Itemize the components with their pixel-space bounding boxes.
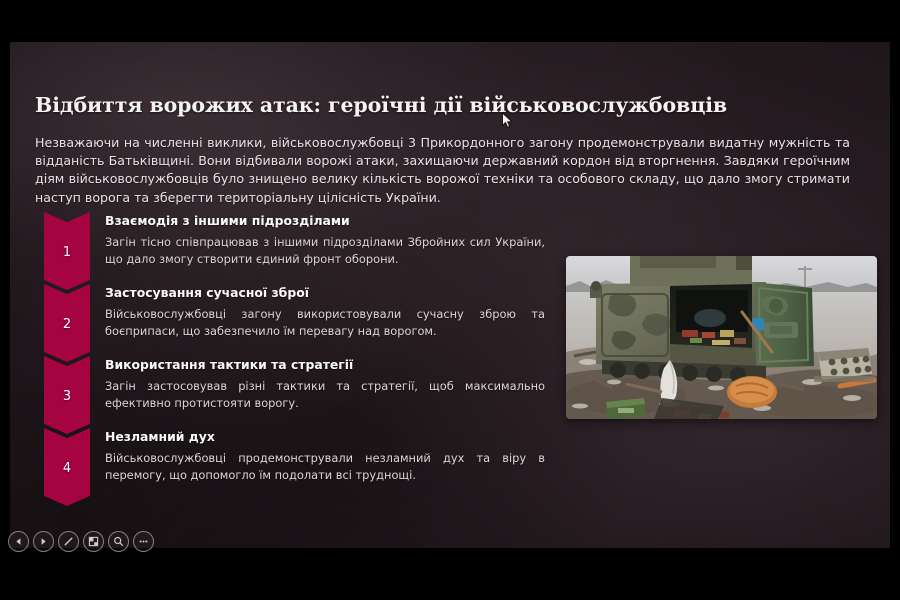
play-forward-icon xyxy=(39,537,48,546)
ribbon-badge-2: 2 xyxy=(44,284,90,362)
ribbon-number-label: 3 xyxy=(63,390,71,403)
presentation-viewer: Відбиття ворожих атак: героїчні дії війс… xyxy=(0,0,900,600)
list-item: 3 Використання тактики та стратегії Загі… xyxy=(35,356,545,428)
ribbon-number-label: 4 xyxy=(63,462,71,475)
page-title: Відбиття ворожих атак: героїчні дії війс… xyxy=(35,92,855,118)
ribbon-badge-1: 1 xyxy=(44,212,90,290)
feature-title: Застосування сучасної зброї xyxy=(105,285,545,301)
slide-overview-button[interactable] xyxy=(83,531,104,552)
previous-slide-button[interactable] xyxy=(8,531,29,552)
feature-description: Військовослужбовці продемонстрували незл… xyxy=(105,450,545,483)
feature-text-block: Використання тактики та стратегії Загін … xyxy=(105,357,545,411)
list-item: 1 Взаємодія з іншими підрозділами Загін … xyxy=(35,212,545,284)
zoom-button[interactable] xyxy=(108,531,129,552)
slide-photo xyxy=(566,256,877,419)
pen-icon xyxy=(63,536,74,547)
feature-list: 1 Взаємодія з іншими підрозділами Загін … xyxy=(35,212,545,500)
ribbon-badge-4: 4 xyxy=(44,428,90,506)
next-slide-button[interactable] xyxy=(33,531,54,552)
ellipsis-icon xyxy=(138,536,149,547)
pen-tool-button[interactable] xyxy=(58,531,79,552)
slide-canvas[interactable]: Відбиття ворожих атак: героїчні дії війс… xyxy=(10,42,890,548)
ribbon-number-label: 1 xyxy=(63,246,71,259)
play-back-icon xyxy=(14,537,23,546)
more-options-button[interactable] xyxy=(133,531,154,552)
feature-description: Загін застосовував різні тактики та стра… xyxy=(105,378,545,411)
list-item: 4 Незламний дух Військовослужбовці проде… xyxy=(35,428,545,500)
ribbon-badge-3: 3 xyxy=(44,356,90,434)
list-item: 2 Застосування сучасної зброї Військовос… xyxy=(35,284,545,356)
magnifier-icon xyxy=(113,536,124,547)
feature-title: Використання тактики та стратегії xyxy=(105,357,545,373)
destroyed-vehicle-photo xyxy=(566,256,877,419)
presentation-toolbar[interactable] xyxy=(8,531,154,552)
feature-title: Незламний дух xyxy=(105,429,545,445)
feature-description: Військовослужбовці загону використовувал… xyxy=(105,306,545,339)
feature-description: Загін тісно співпрацював з іншими підроз… xyxy=(105,234,545,267)
feature-text-block: Взаємодія з іншими підрозділами Загін ті… xyxy=(105,213,545,267)
ribbon-number-label: 2 xyxy=(63,318,71,331)
grid-icon xyxy=(88,536,99,547)
feature-title: Взаємодія з іншими підрозділами xyxy=(105,213,545,229)
feature-text-block: Застосування сучасної зброї Військовослу… xyxy=(105,285,545,339)
intro-paragraph: Незважаючи на численні виклики, військов… xyxy=(35,134,850,208)
feature-text-block: Незламний дух Військовослужбовці продемо… xyxy=(105,429,545,483)
